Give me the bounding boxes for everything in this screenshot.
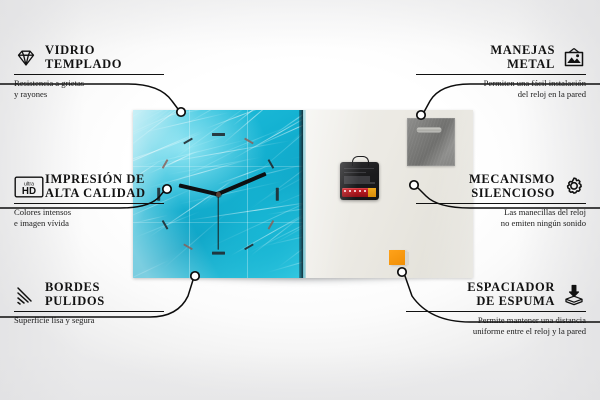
gear-icon	[562, 175, 586, 199]
picture-hanger-icon	[562, 46, 586, 70]
title-line-2: SILENCIOSO	[469, 187, 555, 201]
polished-edges-icon	[14, 283, 38, 307]
desc-line-2: y rayones	[14, 89, 47, 99]
title-line-2: ALTA CALIDAD	[45, 187, 146, 201]
feature-mecanismo-silencioso: MECANISMO SILENCIOSO Las manecillas del …	[416, 173, 586, 228]
divider	[416, 74, 586, 75]
desc-line-1: Permite mantener una distancia	[478, 315, 586, 325]
divider	[406, 311, 586, 312]
connector-dot-manejas	[417, 111, 425, 119]
desc-line-1: Las manecillas del reloj	[504, 207, 586, 217]
divider	[14, 74, 164, 75]
desc-line-2: no emiten ningún sonido	[501, 218, 586, 228]
feature-description: Permiten una fácil instalación del reloj…	[416, 78, 586, 99]
feature-title: MANEJAS METAL	[490, 44, 555, 71]
title-line-2: PULIDOS	[45, 295, 105, 309]
desc-line-1: Resistencia a grietas	[14, 78, 84, 88]
feature-title: BORDES PULIDOS	[45, 281, 105, 308]
title-line-1: BORDES	[45, 281, 105, 295]
feature-bordes-pulidos: BORDES PULIDOS Superficie lisa y segura	[14, 281, 164, 326]
hd-label: HD	[22, 186, 36, 197]
connector-dot-vidrio-templado	[177, 108, 185, 116]
feature-title: MECANISMO SILENCIOSO	[469, 173, 555, 200]
feature-title: VIDRIO TEMPLADO	[45, 44, 122, 71]
feature-title: IMPRESIÓN DE ALTA CALIDAD	[45, 173, 146, 200]
desc-line-1: Superficie lisa y segura	[14, 315, 94, 325]
feature-description: Colores intensos e imagen vívida	[14, 207, 164, 228]
feature-title: ESPACIADOR DE ESPUMA	[467, 281, 555, 308]
ultra-hd-icon: ultra HD	[14, 175, 38, 199]
connector-dot-impresion	[163, 185, 171, 193]
desc-line-2: del reloj en la pared	[518, 89, 586, 99]
foam-spacer-icon	[562, 283, 586, 307]
feature-description: Resistencia a grietas y rayones	[14, 78, 164, 99]
feature-description: Las manecillas del reloj no emiten ningú…	[416, 207, 586, 228]
title-line-2: TEMPLADO	[45, 58, 122, 72]
infographic-canvas: VIDRIO TEMPLADO Resistencia a grietas y …	[0, 0, 600, 400]
title-line-1: MANEJAS	[490, 44, 555, 58]
title-line-2: DE ESPUMA	[467, 295, 555, 309]
feature-description: Superficie lisa y segura	[14, 315, 164, 326]
title-line-1: VIDRIO	[45, 44, 122, 58]
connector-dot-espaciador	[398, 268, 406, 276]
desc-line-2: e imagen vívida	[14, 218, 69, 228]
feature-impresion-alta-calidad: ultra HD IMPRESIÓN DE ALTA CALIDAD Color…	[14, 173, 164, 228]
feature-manejas-metal: MANEJAS METAL Permiten una fácil instala…	[416, 44, 586, 99]
title-line-1: ESPACIADOR	[467, 281, 555, 295]
title-line-1: MECANISMO	[469, 173, 555, 187]
feature-vidrio-templado: VIDRIO TEMPLADO Resistencia a grietas y …	[14, 44, 164, 99]
diamond-icon	[14, 46, 38, 70]
desc-line-1: Permiten una fácil instalación	[484, 78, 586, 88]
title-line-2: METAL	[490, 58, 555, 72]
divider	[14, 203, 164, 204]
feature-description: Permite mantener una distancia uniforme …	[406, 315, 586, 336]
divider	[14, 311, 164, 312]
feature-espaciador-de-espuma: ESPACIADOR DE ESPUMA Permite mantener un…	[406, 281, 586, 336]
desc-line-1: Colores intensos	[14, 207, 71, 217]
connector-dot-bordes	[191, 272, 199, 280]
desc-line-2: uniforme entre el reloj y la pared	[473, 326, 586, 336]
divider	[416, 203, 586, 204]
title-line-1: IMPRESIÓN DE	[45, 173, 146, 187]
